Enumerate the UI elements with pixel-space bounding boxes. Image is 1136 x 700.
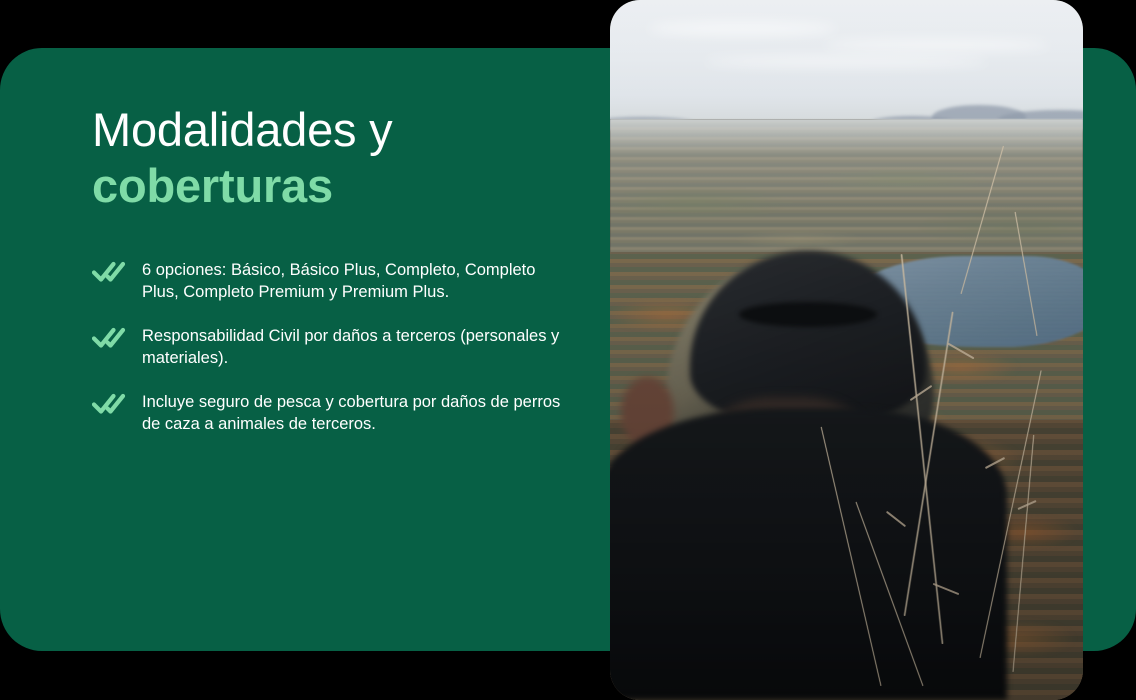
title-line-primary: Modalidades y xyxy=(92,103,392,156)
branch xyxy=(979,370,1042,658)
hero-photo xyxy=(610,0,1083,700)
slide-root: Modalidades y coberturas 6 opciones: Bás… xyxy=(0,0,1136,700)
branch xyxy=(855,501,924,686)
branch xyxy=(1014,212,1038,336)
foreground-branches xyxy=(610,0,1083,700)
double-check-icon xyxy=(92,261,132,283)
branch xyxy=(960,146,1004,295)
branch xyxy=(820,427,882,687)
feature-list: 6 opciones: Básico, Básico Plus, Complet… xyxy=(92,259,562,435)
list-item-text: Incluye seguro de pesca y cobertura por … xyxy=(142,393,560,433)
list-item: 6 opciones: Básico, Básico Plus, Complet… xyxy=(92,259,562,303)
title-line-accent: coberturas xyxy=(92,158,562,214)
page-title: Modalidades y coberturas xyxy=(92,102,562,214)
double-check-icon xyxy=(92,327,132,349)
list-item-text: 6 opciones: Básico, Básico Plus, Complet… xyxy=(142,261,535,301)
twig xyxy=(984,457,1004,469)
list-item: Incluye seguro de pesca y cobertura por … xyxy=(92,391,562,435)
text-column: Modalidades y coberturas 6 opciones: Bás… xyxy=(92,102,562,435)
list-item-text: Responsabilidad Civil por daños a tercer… xyxy=(142,327,559,367)
double-check-icon xyxy=(92,393,132,415)
list-item: Responsabilidad Civil por daños a tercer… xyxy=(92,325,562,369)
branch xyxy=(1012,435,1035,672)
twig xyxy=(886,511,906,527)
twig xyxy=(947,343,974,360)
